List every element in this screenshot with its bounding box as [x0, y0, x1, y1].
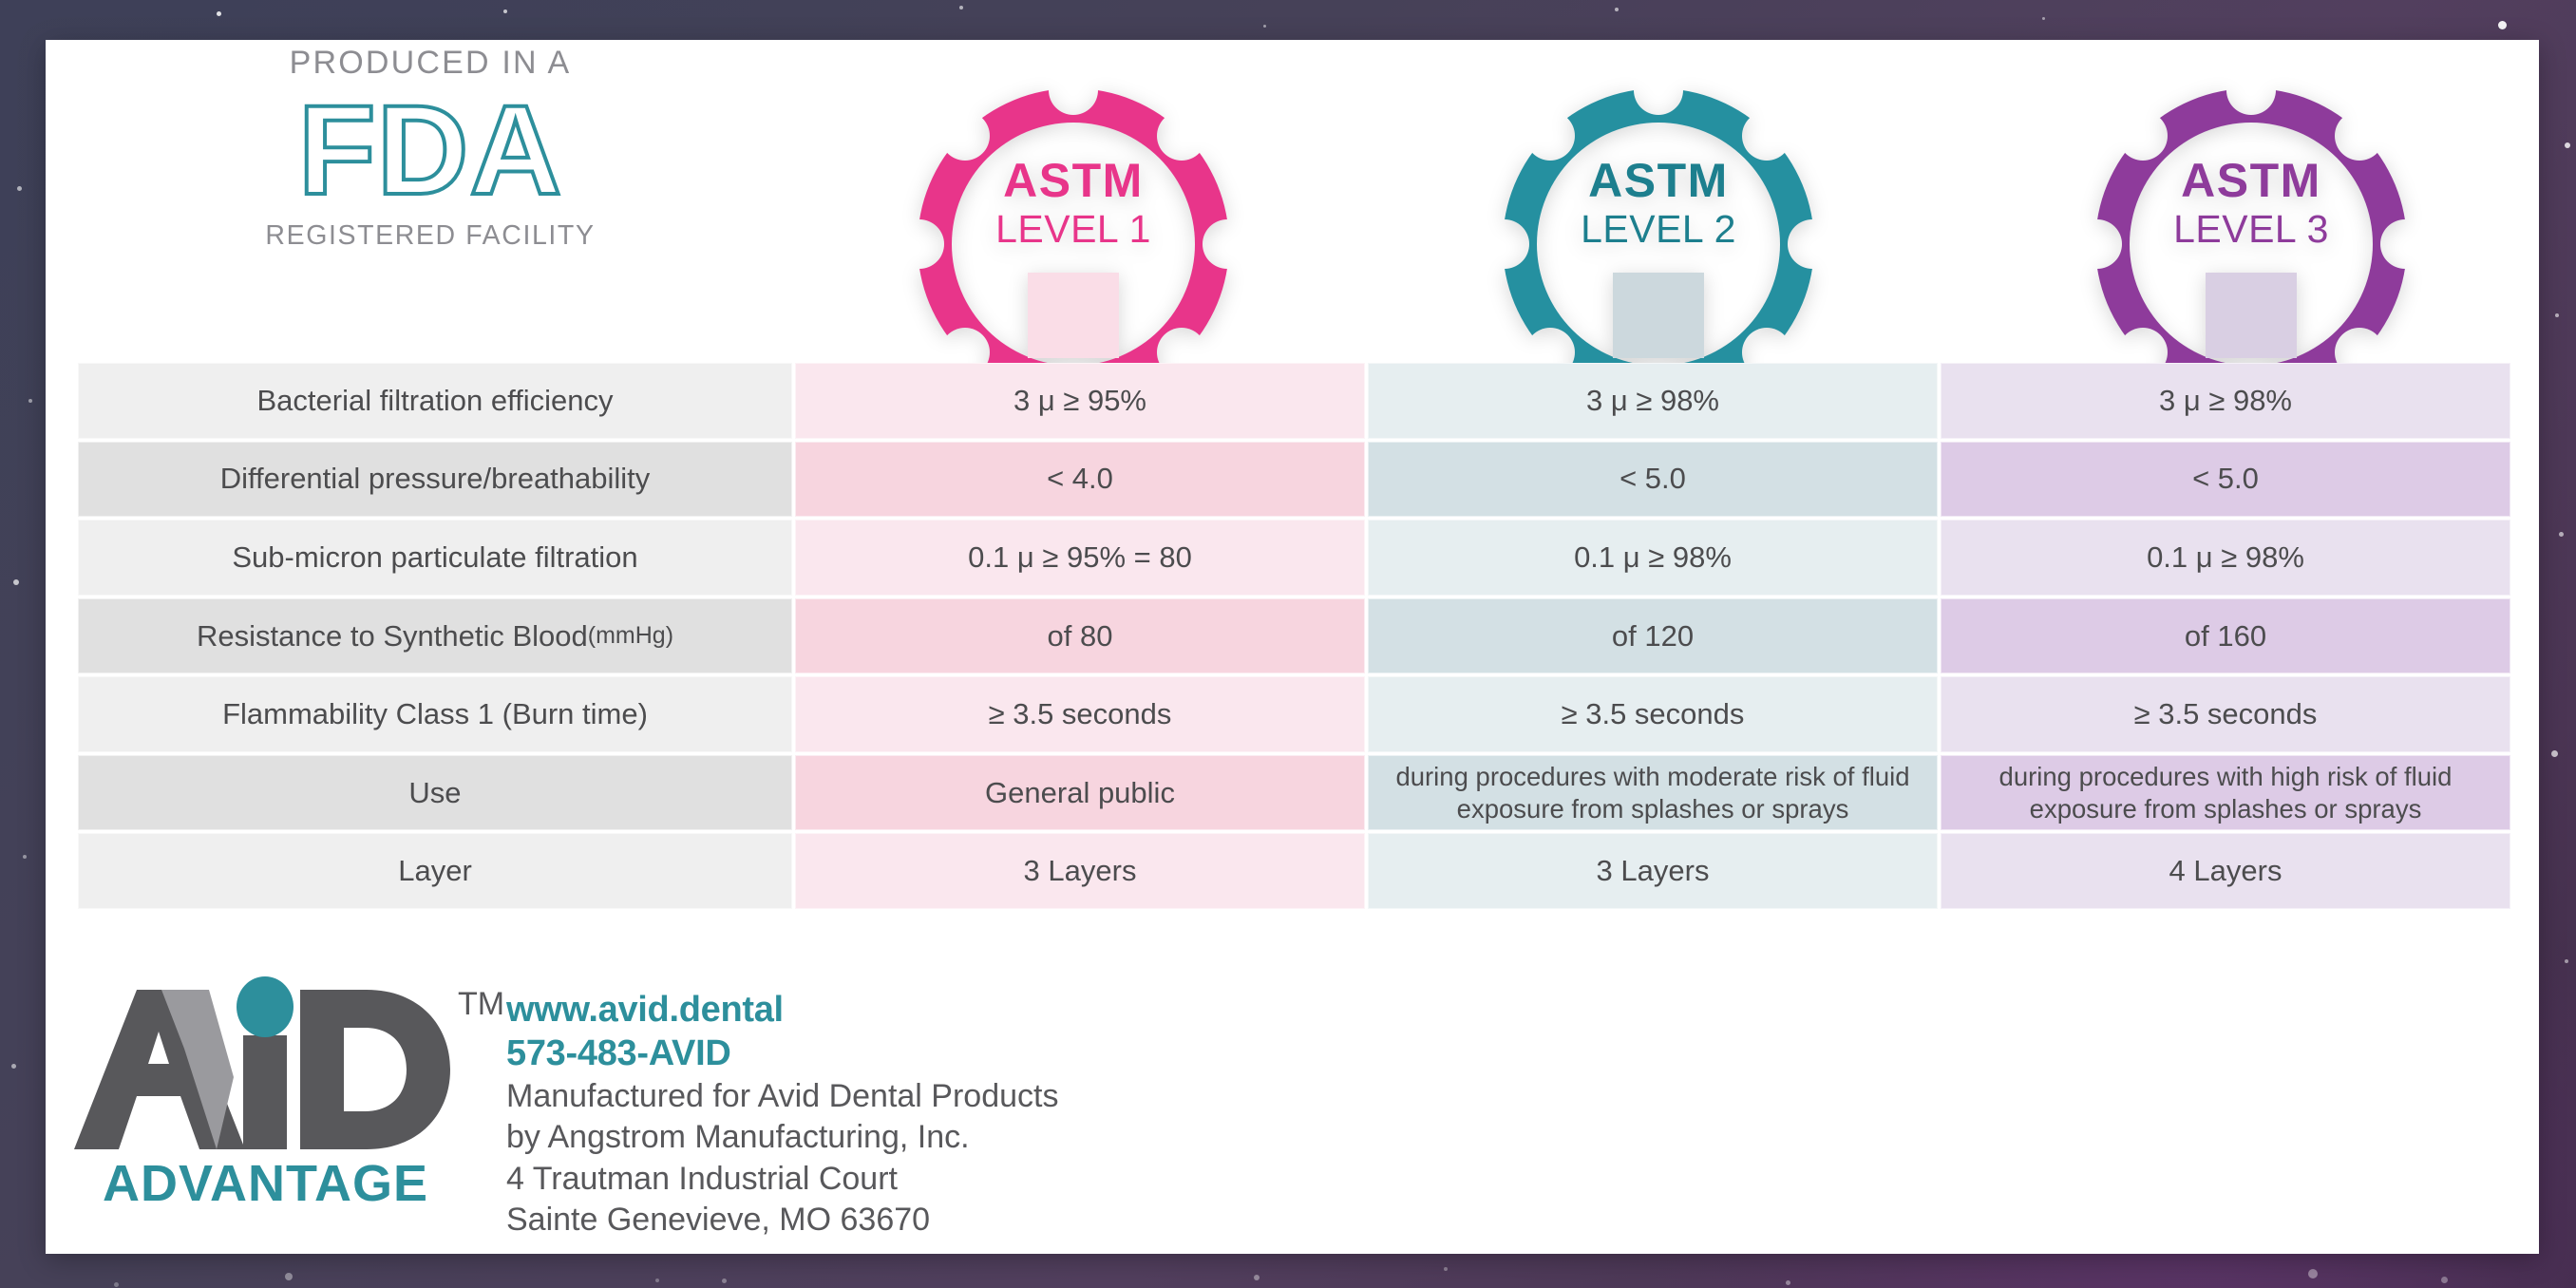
table-row: Flammability Class 1 (Burn time) ≥ 3.5 s…: [78, 676, 2508, 752]
row-label: Bacterial filtration efficiency: [78, 363, 792, 439]
level-3-value: 4 Layers: [1941, 833, 2510, 909]
level-1-color-swatch: [1028, 273, 1119, 358]
star-dot: [2551, 750, 2558, 757]
contact-line-2: by Angstrom Manufacturing, Inc.: [506, 1117, 1361, 1159]
level-1-value: 3 Layers: [795, 833, 1365, 909]
contact-line-4: Sainte Genevieve, MO 63670: [506, 1200, 1361, 1241]
star-dot: [2555, 313, 2559, 317]
row-label: Differential pressure/breathability: [78, 442, 792, 518]
fda-registered-facility-badge: PRODUCED IN A FDA REGISTERED FACILITY: [226, 47, 635, 249]
contact-info: www.avid.dental 573-483-AVID Manufacture…: [506, 988, 1361, 1241]
svg-text:TM: TM: [458, 986, 504, 1022]
page-root: PRODUCED IN A FDA REGISTERED FACILITY: [0, 0, 2576, 1288]
level-1-value: General public: [795, 755, 1365, 831]
star-dot: [1254, 1275, 1260, 1280]
star-dot: [217, 11, 221, 16]
level-2-value: 0.1 μ ≥ 98%: [1368, 520, 1938, 596]
level-2-value: < 5.0: [1368, 442, 1938, 518]
fda-top-line: PRODUCED IN A: [226, 47, 635, 79]
fda-bottom-line: REGISTERED FACILITY: [226, 222, 635, 250]
level-3-value: during procedures with high risk of flui…: [1941, 755, 2510, 831]
row-label-text: Resistance to Synthetic Blood: [197, 618, 588, 654]
level-1-value: 0.1 μ ≥ 95% = 80: [795, 520, 1365, 596]
row-label-sub: (mmHg): [588, 621, 673, 651]
level-2-value: of 120: [1368, 598, 1938, 674]
row-label: Flammability Class 1 (Burn time): [78, 676, 792, 752]
fda-wordmark: FDA: [226, 83, 635, 220]
star-dot: [2565, 959, 2568, 963]
level-3-value: ≥ 3.5 seconds: [1941, 676, 2510, 752]
table-row: Resistance to Synthetic Blood (mmHg) of …: [78, 598, 2508, 674]
level-3-value: 3 μ ≥ 98%: [1941, 363, 2510, 439]
level-3-color-swatch: [2206, 273, 2297, 358]
star-dot: [285, 1273, 293, 1280]
avid-advantage-logo: TM ADVANTAGE: [66, 973, 513, 1210]
row-label-text: Flammability Class 1 (Burn time): [222, 696, 648, 732]
level-3-value: of 160: [1941, 598, 2510, 674]
star-dot: [23, 855, 27, 859]
star-dot: [1786, 1280, 1790, 1285]
star-dot: [114, 1282, 119, 1287]
astm-comparison-table: Bacterial filtration efficiency 3 μ ≥ 95…: [78, 363, 2508, 909]
row-label: Layer: [78, 833, 792, 909]
level-2-value: 3 Layers: [1368, 833, 1938, 909]
level-2-color-swatch: [1613, 273, 1704, 358]
star-dot: [17, 186, 22, 191]
level-1-value: < 4.0: [795, 442, 1365, 518]
star-dot: [2308, 1269, 2318, 1279]
table-row: Bacterial filtration efficiency 3 μ ≥ 95…: [78, 363, 2508, 439]
row-label-text: Sub-micron particulate filtration: [232, 540, 637, 576]
header-section: PRODUCED IN A FDA REGISTERED FACILITY: [46, 40, 2539, 353]
row-label-text: Use: [408, 775, 461, 811]
star-dot: [1615, 8, 1619, 11]
row-label-text: Layer: [398, 853, 472, 889]
level-2-value: 3 μ ≥ 98%: [1368, 363, 1938, 439]
level-1-value: of 80: [795, 598, 1365, 674]
star-dot: [1444, 1267, 1448, 1271]
star-dot: [11, 1064, 16, 1069]
website-link[interactable]: www.avid.dental: [506, 988, 1361, 1032]
level-1-value: 3 μ ≥ 95%: [795, 363, 1365, 439]
table-row: Use General public during procedures wit…: [78, 755, 2508, 831]
star-dot: [28, 399, 32, 403]
star-dot: [2498, 21, 2507, 29]
star-dot: [2559, 532, 2564, 537]
table-row: Sub-micron particulate filtration 0.1 μ …: [78, 520, 2508, 596]
row-label: Resistance to Synthetic Blood (mmHg): [78, 598, 792, 674]
star-dot: [503, 9, 507, 13]
row-label-text: Bacterial filtration efficiency: [256, 383, 613, 419]
star-dot: [13, 579, 19, 585]
astm-level-2-badge: ASTM LEVEL 2: [1497, 83, 1820, 406]
star-dot: [2441, 1277, 2448, 1283]
avid-logo-icon: TM ADVANTAGE: [66, 973, 513, 1210]
level-1-value: ≥ 3.5 seconds: [795, 676, 1365, 752]
svg-text:ADVANTAGE: ADVANTAGE: [103, 1155, 428, 1210]
astm-level-1-badge: ASTM LEVEL 1: [912, 83, 1235, 406]
astm-level-3-badge: ASTM LEVEL 3: [2090, 83, 2413, 406]
footer-section: TM ADVANTAGE www.avid.dental 573-483-AVI…: [46, 952, 2539, 1254]
phone-number[interactable]: 573-483-AVID: [506, 1032, 1361, 1075]
star-dot: [2565, 142, 2570, 148]
level-2-value: ≥ 3.5 seconds: [1368, 676, 1938, 752]
level-3-value: < 5.0: [1941, 442, 2510, 518]
table-row: Differential pressure/breathability < 4.…: [78, 442, 2508, 518]
contact-line-1: Manufactured for Avid Dental Products: [506, 1076, 1361, 1118]
contact-line-3: 4 Trautman Industrial Court: [506, 1159, 1361, 1201]
star-dot: [2042, 17, 2045, 20]
star-dot: [1263, 25, 1266, 28]
level-2-value: during procedures with moderate risk of …: [1368, 755, 1938, 831]
row-label: Use: [78, 755, 792, 831]
star-dot: [655, 1279, 659, 1282]
table-row: Layer 3 Layers 3 Layers 4 Layers: [78, 833, 2508, 909]
row-label: Sub-micron particulate filtration: [78, 520, 792, 596]
content-card: PRODUCED IN A FDA REGISTERED FACILITY: [46, 40, 2539, 1254]
star-dot: [959, 6, 963, 9]
level-3-value: 0.1 μ ≥ 98%: [1941, 520, 2510, 596]
star-dot: [722, 1279, 727, 1283]
row-label-text: Differential pressure/breathability: [220, 461, 651, 497]
